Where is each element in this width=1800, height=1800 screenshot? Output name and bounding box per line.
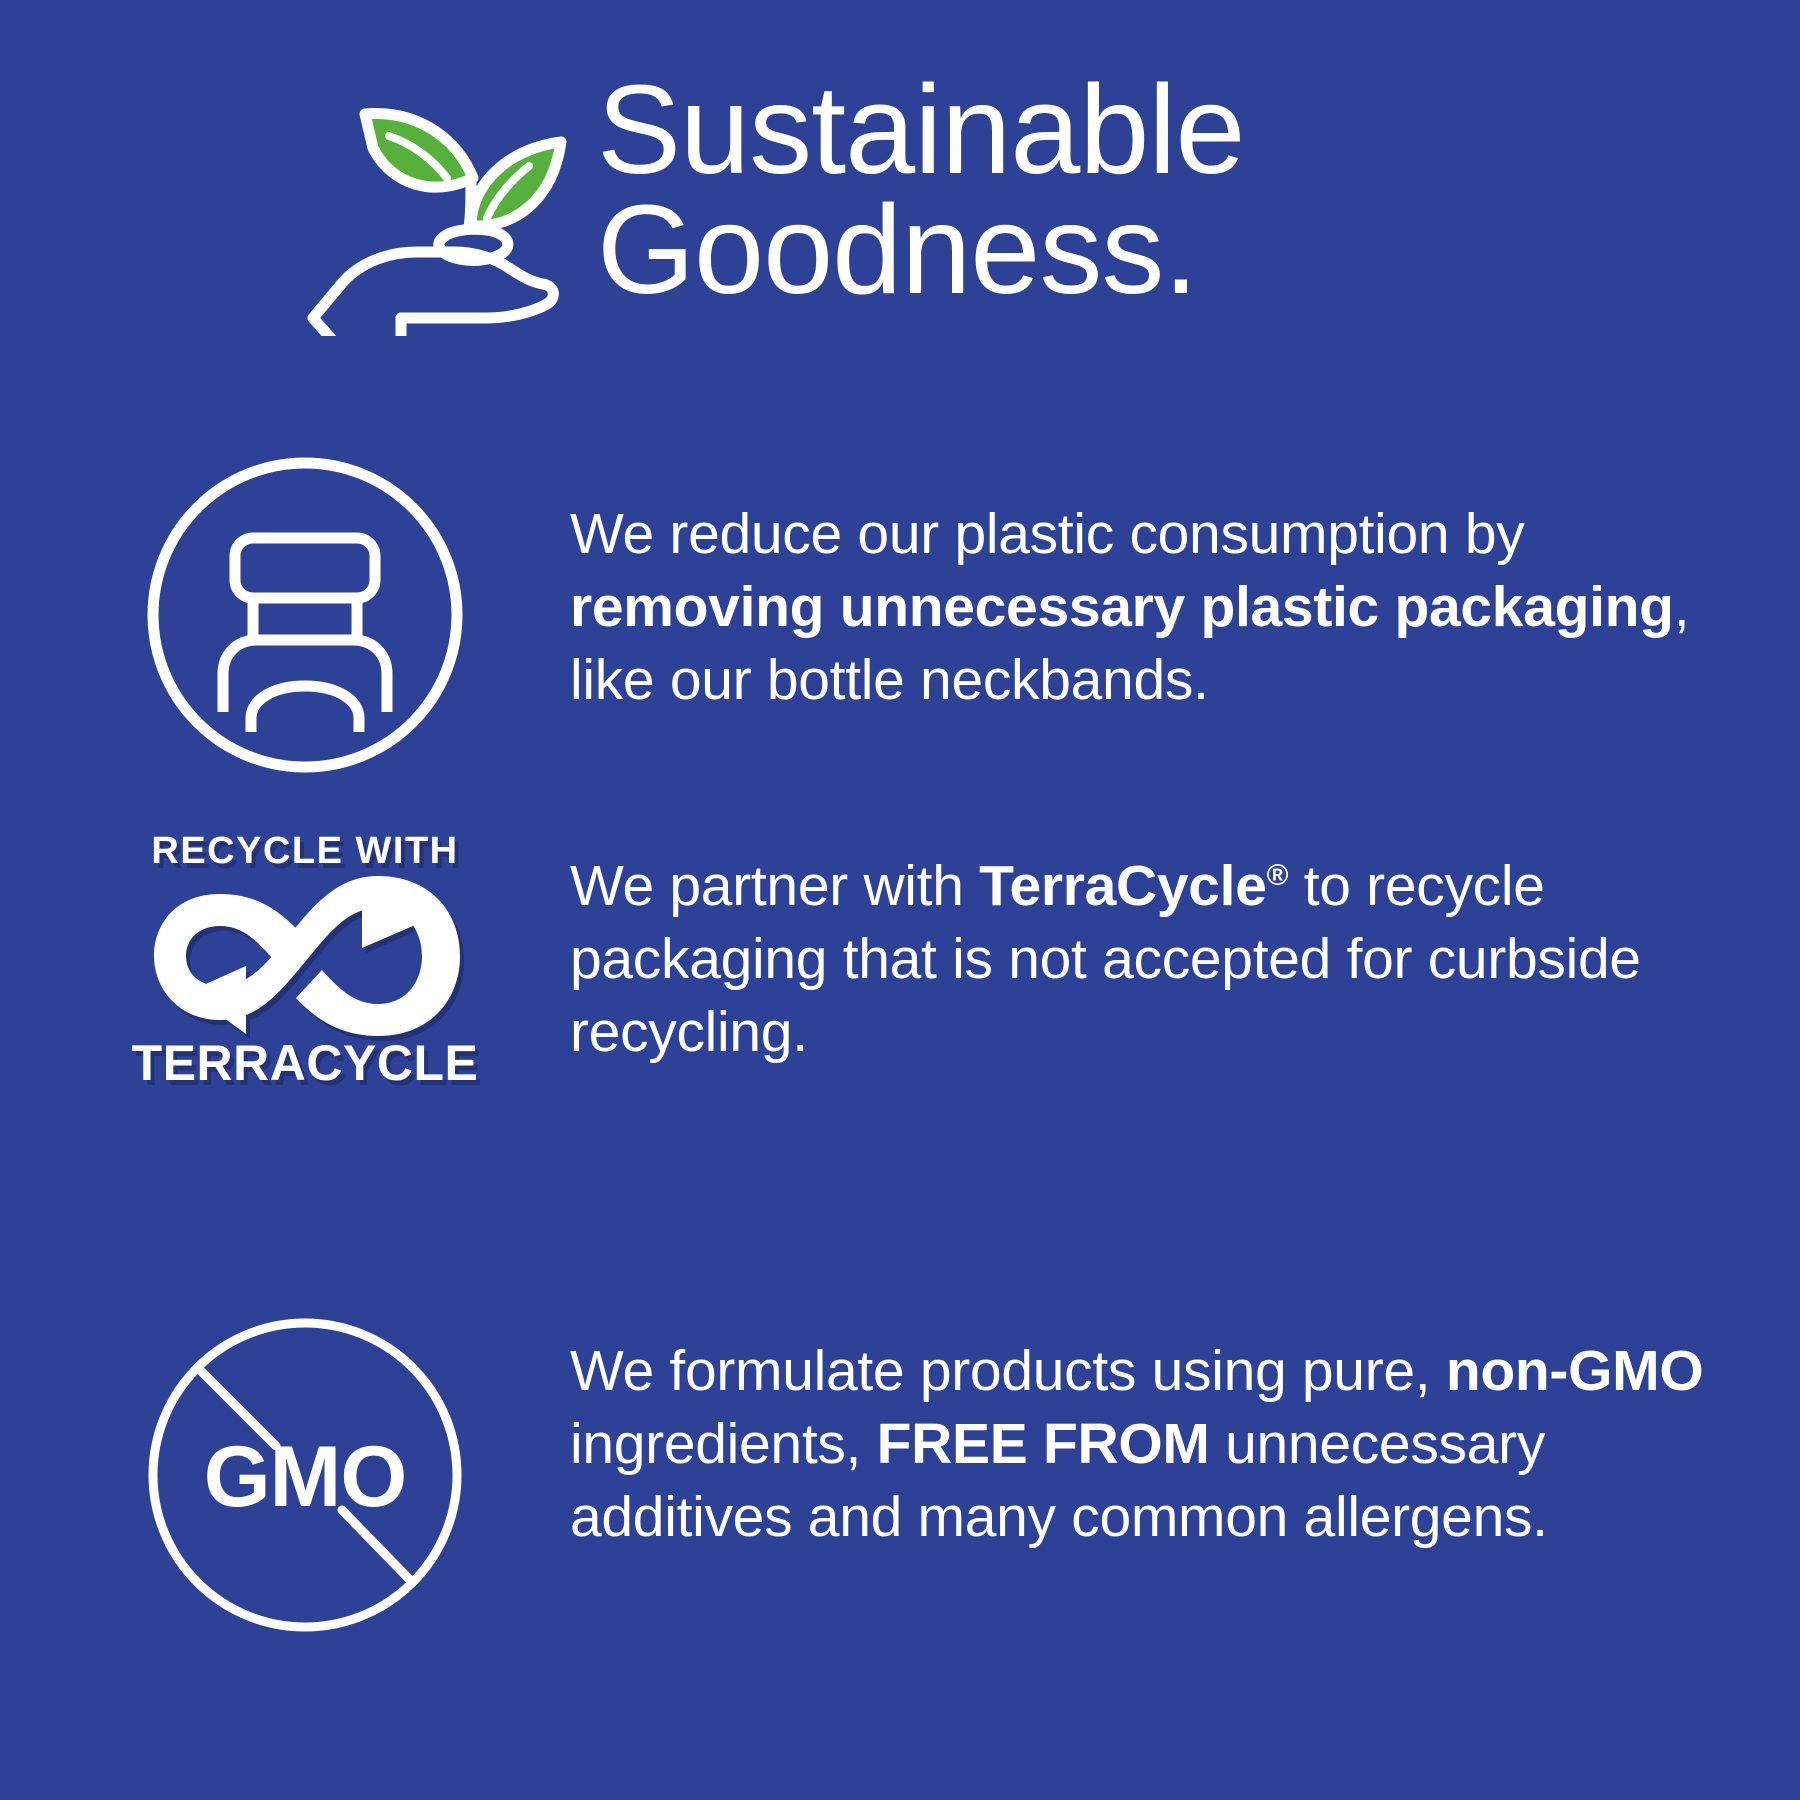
terracycle-top-label: RECYCLE WITH — [151, 832, 458, 870]
bottle-in-circle-icon — [140, 450, 470, 780]
title-line-2: Goodness. — [597, 190, 1245, 310]
feature-row-gmo: GMO We formulate products using pure, no… — [140, 1310, 1770, 1640]
sustainability-infographic: Sustainable Goodness. We reduce our plas… — [0, 0, 1800, 1800]
feature-row-plastic: We reduce our plastic consumption by rem… — [140, 450, 1750, 780]
feature-row-terracycle: RECYCLE WITH TERRACYCLE We partner with … — [140, 815, 1750, 1105]
text-segment-bold: non-GMO — [1446, 1339, 1704, 1403]
text-segment: We formulate products using pure, — [570, 1339, 1446, 1403]
hand-holding-sprout-icon — [305, 86, 575, 336]
feature-text-terracycle: We partner with TerraCycle® to recycle p… — [570, 850, 1750, 1069]
text-segment-bold: removing unnecessary plastic packaging — [570, 575, 1674, 639]
title-line-1: Sustainable — [597, 70, 1245, 190]
feature-text-gmo: We formulate products using pure, non-GM… — [570, 1335, 1770, 1554]
page-title: Sustainable Goodness. — [597, 70, 1245, 309]
feature-text-plastic: We reduce our plastic consumption by rem… — [570, 498, 1750, 717]
text-segment: We reduce our plastic consumption by — [570, 502, 1524, 566]
header: Sustainable Goodness. — [305, 70, 1245, 336]
infinity-recycle-arrows-icon — [150, 876, 460, 1036]
text-segment-bold: FREE FROM — [877, 1412, 1210, 1476]
text-segment: We partner with — [570, 854, 979, 918]
text-segment: ingredients, — [570, 1412, 877, 1476]
terracycle-logo: RECYCLE WITH TERRACYCLE — [140, 815, 470, 1105]
registered-mark: ® — [1267, 859, 1289, 892]
no-gmo-icon: GMO — [140, 1310, 470, 1640]
text-segment-bold: TerraCycle — [979, 854, 1266, 918]
terracycle-bottom-label: TERRACYCLE — [132, 1038, 479, 1088]
gmo-label: GMO — [204, 1429, 406, 1525]
